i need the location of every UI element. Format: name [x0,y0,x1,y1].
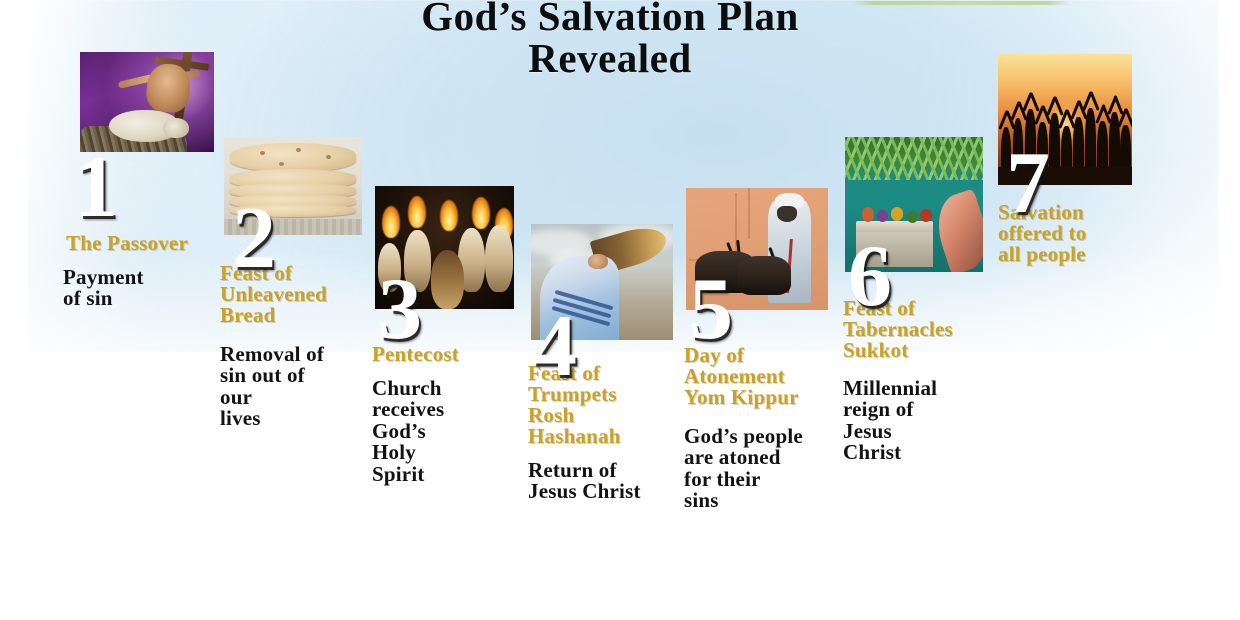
step-description-6: Millennial reign of Jesus Christ [843,378,1003,464]
crucifixion-with-lamb-photo [80,52,214,152]
step-number-7: 7 [1006,148,1050,220]
green-divider-rule [852,1,1070,5]
step-number-6: 6 [848,241,892,313]
infographic-canvas: God’s Salvation Plan Revealed 1 The Pass… [0,0,1240,620]
step-description-5: God’s people are atoned for their sins [684,426,849,512]
step-number-1: 1 [74,152,118,224]
step-description-1: Payment of sin [63,267,243,310]
step-number-4: 4 [533,311,577,383]
step-description-2: Removal of sin out of our lives [220,344,380,430]
step-number-2: 2 [232,203,276,275]
step-description-4: Return of Jesus Christ [528,460,688,503]
page-title: God’s Salvation Plan Revealed [390,0,830,80]
step-number-3: 3 [378,274,422,346]
step-number-5: 5 [689,274,733,346]
step-description-3: Church receives God’s Holy Spirit [372,378,522,485]
